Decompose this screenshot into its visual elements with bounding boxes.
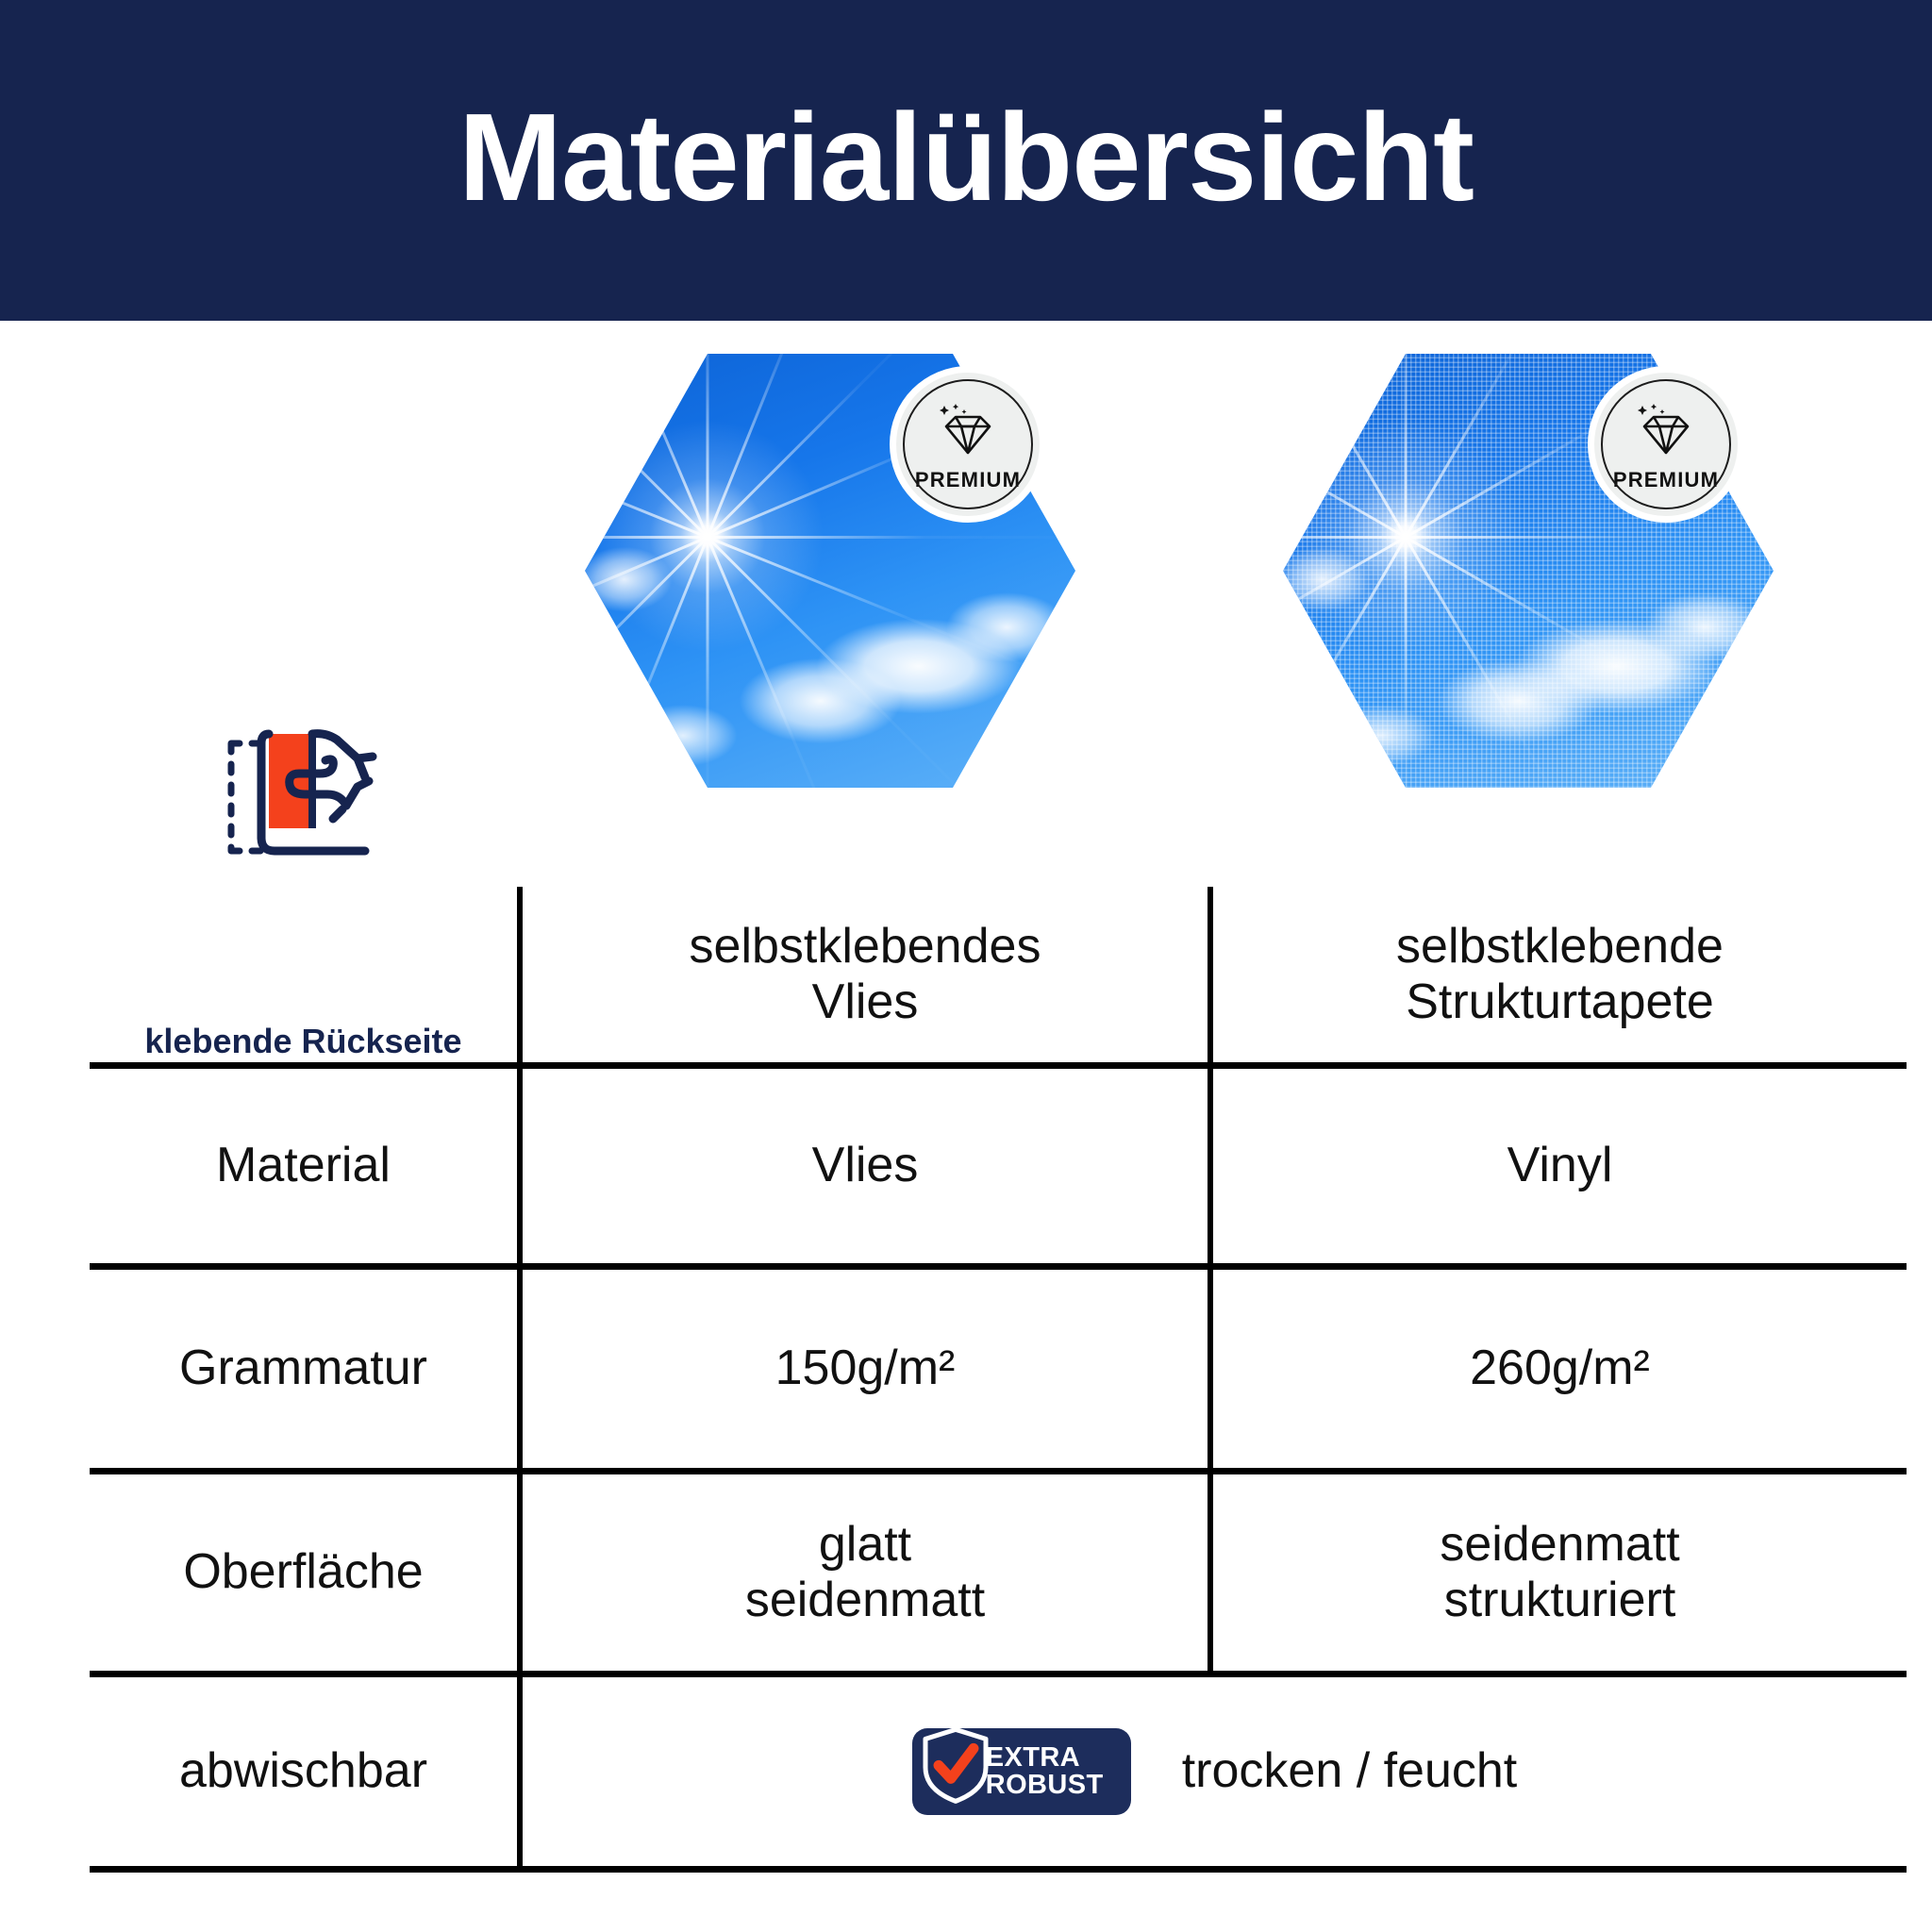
cell-oberflaeche-vlies-line1: glatt — [530, 1517, 1200, 1573]
table-row: Oberfläche glatt seidenmatt seidenmatt s… — [90, 1472, 1907, 1674]
adhesive-back-label: klebende Rückseite — [144, 1021, 461, 1062]
cell-oberflaeche-vlies-line2: seidenmatt — [530, 1573, 1200, 1628]
column-header-vlies-line2: Vlies — [530, 974, 1200, 1030]
shield-check-icon — [920, 1724, 991, 1819]
table-row: klebende Rückseite selbstklebendes Vlies… — [90, 887, 1907, 1066]
cell-oberflaeche-strukturtapete-line2: strukturiert — [1221, 1573, 1899, 1628]
abwischbar-value-text: trocken / feucht — [1182, 1743, 1518, 1799]
adhesive-back-icon — [214, 719, 393, 887]
badge-ring — [903, 379, 1033, 509]
column-header-strukturtapete: selbstklebende Strukturtapete — [1210, 887, 1907, 1066]
page-title: Materialübersicht — [458, 95, 1474, 220]
adhesive-back-cell: klebende Rückseite — [90, 887, 520, 1066]
table-row: Material Vlies Vinyl — [90, 1066, 1907, 1267]
material-spec-table: klebende Rückseite selbstklebendes Vlies… — [90, 887, 1850, 1873]
cell-oberflaeche-strukturtapete: seidenmatt strukturiert — [1210, 1472, 1907, 1674]
row-label-abwischbar: abwischbar — [90, 1674, 520, 1870]
row-label-material: Material — [90, 1066, 520, 1267]
cell-abwischbar-value: EXTRA ROBUST trocken / feucht — [520, 1674, 1907, 1870]
cell-material-vlies: Vlies — [520, 1066, 1210, 1267]
column-header-strukturtapete-line2: Strukturtapete — [1221, 974, 1899, 1030]
cell-material-strukturtapete: Vinyl — [1210, 1066, 1907, 1267]
extra-robust-label: EXTRA ROBUST — [986, 1744, 1104, 1799]
adhesive-back-label-line2: Rückseite — [301, 1022, 461, 1060]
column-header-vlies-line1: selbstklebendes — [530, 919, 1200, 974]
extra-robust-label-line2: ROBUST — [986, 1772, 1104, 1799]
table-row: abwischbar EXTRA ROBUST — [90, 1674, 1907, 1870]
column-header-strukturtapete-line1: selbstklebende — [1221, 919, 1899, 974]
cell-oberflaeche-vlies: glatt seidenmatt — [520, 1472, 1210, 1674]
product-image-strukturtapete: PREMIUM — [1283, 354, 1774, 788]
row-label-grammatur: Grammatur — [90, 1267, 520, 1472]
cell-grammatur-strukturtapete: 260g/m² — [1210, 1267, 1907, 1472]
table-row: Grammatur 150g/m² 260g/m² — [90, 1267, 1907, 1472]
product-image-vlies: PREMIUM — [585, 354, 1075, 788]
adhesive-back-label-line1: klebende — [144, 1022, 291, 1060]
extra-robust-badge: EXTRA ROBUST — [912, 1728, 1131, 1815]
cell-grammatur-vlies: 150g/m² — [520, 1267, 1210, 1472]
column-header-vlies: selbstklebendes Vlies — [520, 887, 1210, 1066]
extra-robust-label-line1: EXTRA — [986, 1744, 1104, 1772]
premium-badge: PREMIUM — [896, 373, 1040, 516]
cell-oberflaeche-strukturtapete-line1: seidenmatt — [1221, 1517, 1899, 1573]
row-label-oberflaeche: Oberfläche — [90, 1472, 520, 1674]
header-band: Materialübersicht — [0, 0, 1932, 321]
premium-badge: PREMIUM — [1594, 373, 1738, 516]
badge-ring — [1601, 379, 1731, 509]
